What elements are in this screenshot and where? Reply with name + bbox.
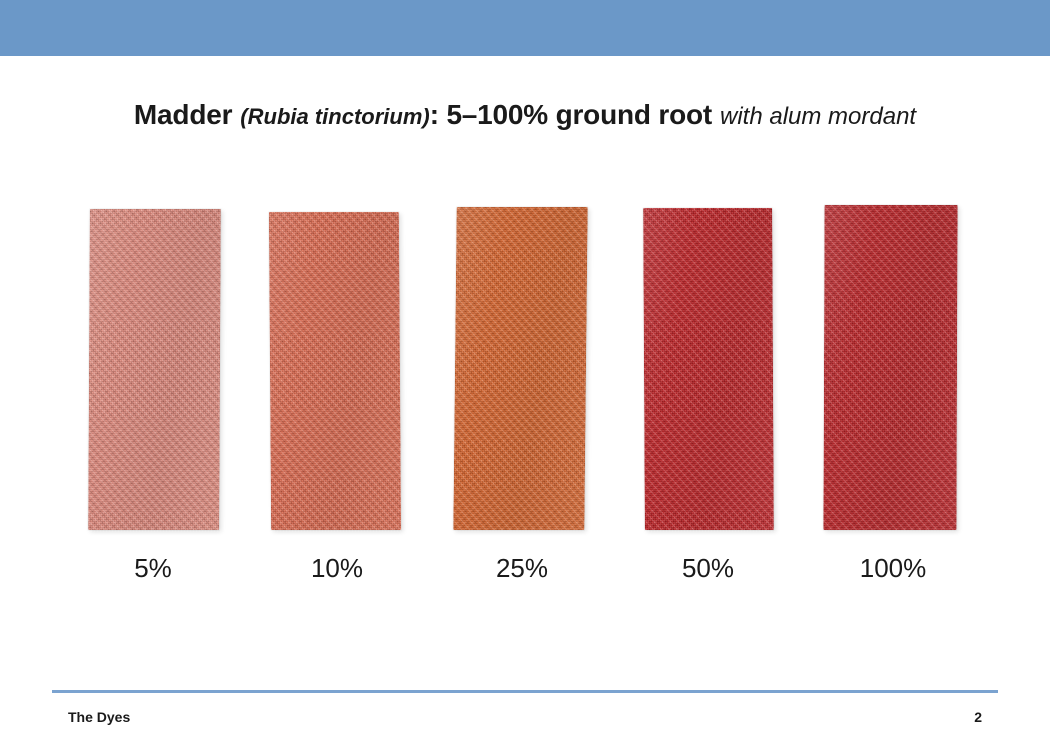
page-title: Madder(Rubia tinctorium): 5–100% ground … (0, 99, 1050, 131)
footer-divider (52, 690, 998, 693)
fabric-swatch-50 (643, 208, 774, 530)
swatch-cell-50 (644, 205, 773, 530)
top-blue-band (0, 0, 1050, 56)
fabric-swatch-100 (823, 205, 957, 530)
swatch-cell-10 (270, 205, 400, 530)
fabric-swatch-5 (88, 209, 221, 530)
title-binomial: (Rubia tinctorium) (240, 104, 429, 129)
swatch-label-5: 5% (93, 553, 213, 584)
title-mordant: with alum mordant (720, 103, 916, 130)
swatch-strip (0, 205, 1050, 530)
fabric-swatch-25 (453, 207, 587, 530)
swatch-cell-5 (89, 205, 220, 530)
slide-canvas: Madder(Rubia tinctorium): 5–100% ground … (0, 0, 1050, 750)
title-spec: : 5–100% ground root (430, 99, 712, 130)
footer-section-label: The Dyes (68, 709, 130, 725)
swatch-label-100: 100% (833, 553, 953, 584)
fabric-swatch-10 (269, 212, 401, 530)
swatch-cell-100 (824, 205, 957, 530)
swatch-cell-25 (455, 205, 586, 530)
swatch-label-50: 50% (648, 553, 768, 584)
title-dye-name: Madder (134, 99, 232, 130)
swatch-label-10: 10% (277, 553, 397, 584)
swatch-label-25: 25% (462, 553, 582, 584)
footer-page-number: 2 (974, 709, 982, 725)
